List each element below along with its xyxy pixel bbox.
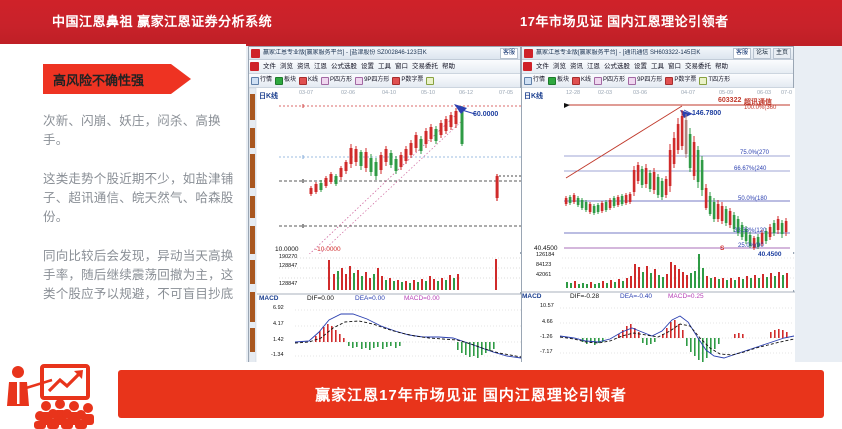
menu-item-news[interactable]: 资讯 [297,62,310,72]
toolbar-button-9p-square[interactable]: 9P四方形 [355,76,389,85]
chart-canvas-right[interactable]: 日K线 12-28 02-03 03-06 04-07 05-09 06-03 … [522,88,793,369]
nine-p-square-icon-right [628,77,636,85]
home-tab-button[interactable]: 主页 [773,48,791,59]
bottom-banner-text: 赢家江恩17年市场见证 国内江恩理论引领者 [315,384,627,405]
toolbar-button-quotes[interactable]: 行情 [251,76,272,85]
chart-svg-left [249,88,522,369]
toolbar-button-p-square-right[interactable]: P四方形 [594,76,625,85]
toolbar-button-p-number[interactable]: P数字票 [392,76,423,85]
toolbar-label-p-square: P四方形 [330,76,352,85]
menu-item-help[interactable]: 帮助 [442,62,455,72]
toolbar-right: 行情 板块 K线 P四方形 9P四方形 P数字票 [522,74,793,88]
paragraph-1: 次新、闪崩、妖庄，闷杀、高换手。 [43,112,235,150]
chart-svg-right [522,88,795,369]
paragraph-3: 同向比较后会发现，异动当天高换手率，随后继续震荡回撤为主，这类个股应予以规避，不… [43,247,235,304]
p-square-icon [321,77,329,85]
menu-item-file[interactable]: 文件 [263,62,276,72]
nine-p-square-icon [355,77,363,85]
bottom-banner: 赢家江恩17年市场见证 国内江恩理论引领者 [118,370,824,418]
kline-icon [299,77,307,85]
paragraph-2: 这类走势个股近期不少，如盐津铺子、超讯通信、皖天然气、哈森股份。 [43,170,235,227]
menu-item-help-right[interactable]: 帮助 [715,62,728,72]
menu-item-trade[interactable]: 交易委托 [412,62,438,72]
toolbar-button-t-square[interactable] [426,77,434,85]
p-number-icon [392,77,400,85]
toolbar-button-p-square[interactable]: P四方形 [321,76,352,85]
toolbar-button-sector-right[interactable]: 板块 [548,76,569,85]
toolbar-button-sector[interactable]: 板块 [275,76,296,85]
risk-tag-label: 高风险不确性强 [53,70,183,89]
customer-service-button-left[interactable]: 客服 [500,48,518,59]
menu-item-news-right[interactable]: 资讯 [570,62,583,72]
top-banner-right-title: 17年市场见证 国内江恩理论引领者 [520,11,729,30]
toolbar-label-sector-right: 板块 [557,76,569,85]
menu-item-browse[interactable]: 浏览 [280,62,293,72]
top-banner-left-title: 中国江恩鼻祖 赢家江恩证券分析系统 [52,11,272,30]
menu-item-gann[interactable]: 江恩 [314,62,327,72]
risk-tag-banner: 高风险不确性强 [43,64,191,94]
toolbar-label-p-number-right: P数字票 [674,76,696,85]
menu-item-settings-right[interactable]: 设置 [634,62,647,72]
t-square-icon-right [699,77,707,85]
presenter-chart-audience-icon [4,362,96,429]
app-window-left: 赢家江恩专业版[赢家服务平台] - [盐津股份 SZ002846-123日K 客… [248,46,521,368]
p-square-icon-right [594,77,602,85]
toolbar-button-kline-right[interactable]: K线 [572,76,591,85]
toolbar-label-kline: K线 [308,76,318,85]
menu-item-tools-right[interactable]: 工具 [651,62,664,72]
menu-item-window[interactable]: 窗口 [395,62,408,72]
menubar-left: 文件 浏览 资讯 江恩 公式选股 设置 工具 窗口 交易委托 帮助 [249,60,520,74]
menu-item-formula[interactable]: 公式选股 [331,62,357,72]
menu-logo-icon-right [523,62,532,71]
toolbar-button-9p-square-right[interactable]: 9P四方形 [628,76,662,85]
sector-icon [275,77,283,85]
toolbar-label-sector: 板块 [284,76,296,85]
sector-icon-right [548,77,556,85]
toolbar-label-p-number: P数字票 [401,76,423,85]
p-number-icon-right [665,77,673,85]
menu-item-formula-right[interactable]: 公式选股 [604,62,630,72]
menu-item-window-right[interactable]: 窗口 [668,62,681,72]
toolbar-button-t-square-right[interactable]: T四方形 [699,76,730,85]
toolbar-button-quotes-right[interactable]: 行情 [524,76,545,85]
toolbar-label-t-square-right: T四方形 [708,76,730,85]
forum-tab-button[interactable]: 论坛 [753,48,771,59]
t-square-icon [426,77,434,85]
trading-software-screenshot: 赢家江恩专业版[赢家服务平台] - [盐津股份 SZ002846-123日K 客… [246,44,842,366]
toolbar-left: 行情 板块 K线 P四方形 9P四方形 P数字票 [249,74,520,88]
customer-service-button-right[interactable]: 客服 [733,48,751,59]
menu-item-settings[interactable]: 设置 [361,62,374,72]
top-banner: 中国江恩鼻祖 赢家江恩证券分析系统 17年市场见证 国内江恩理论引领者 [0,0,842,44]
window-titlebar-left: 赢家江恩专业版[赢家服务平台] - [盐津股份 SZ002846-123日K 客… [249,47,520,60]
app-logo-icon [251,49,260,58]
quotes-icon [251,77,259,85]
toolbar-button-kline[interactable]: K线 [299,76,318,85]
app-window-right: 赢家江恩专业版[赢家服务平台] - [通讯通信 SH603322-145日K 客… [521,46,794,368]
quotes-icon-right [524,77,532,85]
window-titlebar-right: 赢家江恩专业版[赢家服务平台] - [通讯通信 SH603322-145日K 客… [522,47,793,60]
menu-item-gann-right[interactable]: 江恩 [587,62,600,72]
menu-item-browse-right[interactable]: 浏览 [553,62,566,72]
window-title-left: 赢家江恩专业版[赢家服务平台] - [盐津股份 SZ002846-123日K [263,49,500,58]
menu-item-tools[interactable]: 工具 [378,62,391,72]
toolbar-label-quotes-right: 行情 [533,76,545,85]
bottom-zone: 赢家江恩17年市场见证 国内江恩理论引领者 [0,362,842,429]
left-text-column: 高风险不确性强 次新、闪崩、妖庄，闷杀、高换手。 这类走势个股近期不少，如盐津铺… [0,44,246,362]
kline-icon-right [572,77,580,85]
toolbar-label-quotes: 行情 [260,76,272,85]
menu-item-trade-right[interactable]: 交易委托 [685,62,711,72]
chart-canvas-left[interactable]: 日K线 03-07 02-06 04-10 05-10 06-12 07-05 … [249,88,520,369]
toolbar-label-9p-square-right: 9P四方形 [637,76,662,85]
toolbar-button-p-number-right[interactable]: P数字票 [665,76,696,85]
menu-item-file-right[interactable]: 文件 [536,62,549,72]
toolbar-label-kline-right: K线 [581,76,591,85]
toolbar-label-9p-square: 9P四方形 [364,76,389,85]
menubar-right: 文件 浏览 资讯 江恩 公式选股 设置 工具 窗口 交易委托 帮助 [522,60,793,74]
menu-logo-icon [250,62,259,71]
window-title-right: 赢家江恩专业版[赢家服务平台] - [通讯通信 SH603322-145日K [536,49,733,58]
app-logo-icon-right [524,49,533,58]
toolbar-label-p-square-right: P四方形 [603,76,625,85]
